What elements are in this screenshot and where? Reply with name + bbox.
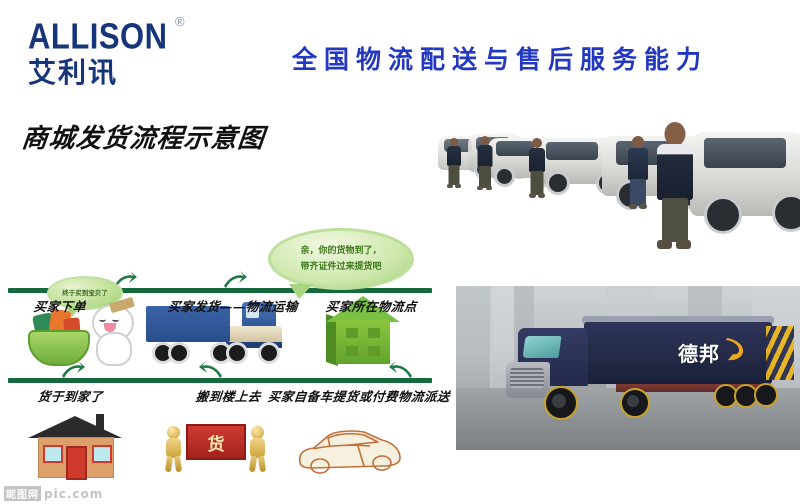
service-fleet-photo (432, 108, 800, 270)
cargo-box-label: 货 (188, 426, 244, 458)
logistics-speech-text: 亲，你的货物到了， 带齐证件过来提货吧 (281, 238, 401, 280)
flow-caption-row2-2-prefix: 买家自备车提货 (267, 389, 360, 404)
shipping-flow-diagram: 商城发货流程示意图 终于买到宝贝了 (0, 100, 440, 420)
watermark-text: pic.com (44, 487, 103, 501)
staff-person (446, 138, 462, 190)
flow-caption-row2-1: 搬到楼上去 (195, 386, 262, 405)
registered-trademark-icon: ® (175, 14, 185, 29)
car-sketch-icon (290, 422, 408, 478)
diagram-title: 商城发货流程示意图 (20, 118, 267, 155)
company-logo: ALLISON ® 艾利讯 (28, 18, 203, 86)
logistics-speech-line2: 带齐证件过来提货吧 (300, 261, 381, 273)
flow-caption-row1-2: 买家所在物流点 (325, 296, 418, 315)
home-house-icon (30, 416, 120, 476)
watermark-badge: 昵图网 (4, 486, 41, 501)
flow-caption-row2-2: 买家自备车提货或付费物流派送 (267, 386, 451, 405)
flow-caption-row1-0: 买家下单 (33, 296, 87, 315)
truck-brand-label: 德邦 (678, 338, 720, 367)
slide-root: ALLISON ® 艾利讯 全国物流配送与售后服务能力 商城发货流程示意图 (0, 0, 800, 450)
staff-person (528, 138, 546, 200)
buyer-character-icon (84, 304, 138, 366)
stock-watermark: 昵图网pic.com (4, 486, 424, 504)
flow-caption-row2-0: 货于到家了 (37, 386, 104, 405)
logistics-speech-bubble: 亲，你的货物到了， 带齐证件过来提货吧 (268, 228, 414, 290)
logistics-speech-line1: 亲，你的货物到了， (300, 245, 381, 257)
deppon-truck-photo: 德邦 (456, 286, 800, 450)
flow-arrow-icon (222, 268, 248, 290)
flow-caption-row1-1: 买家发货——物流运输 (167, 296, 299, 315)
deppon-arrow-icon (724, 336, 746, 362)
staff-person-foreground (656, 122, 694, 254)
flow-caption-row2-2-suffix: 付费物流派送 (371, 389, 451, 404)
staff-person (476, 136, 493, 192)
staff-person (627, 136, 649, 212)
carriers-icon: 货 (160, 420, 272, 476)
page-title: 全国物流配送与售后服务能力 (240, 40, 760, 76)
logo-chinese-text: 艾利讯 (28, 59, 203, 87)
